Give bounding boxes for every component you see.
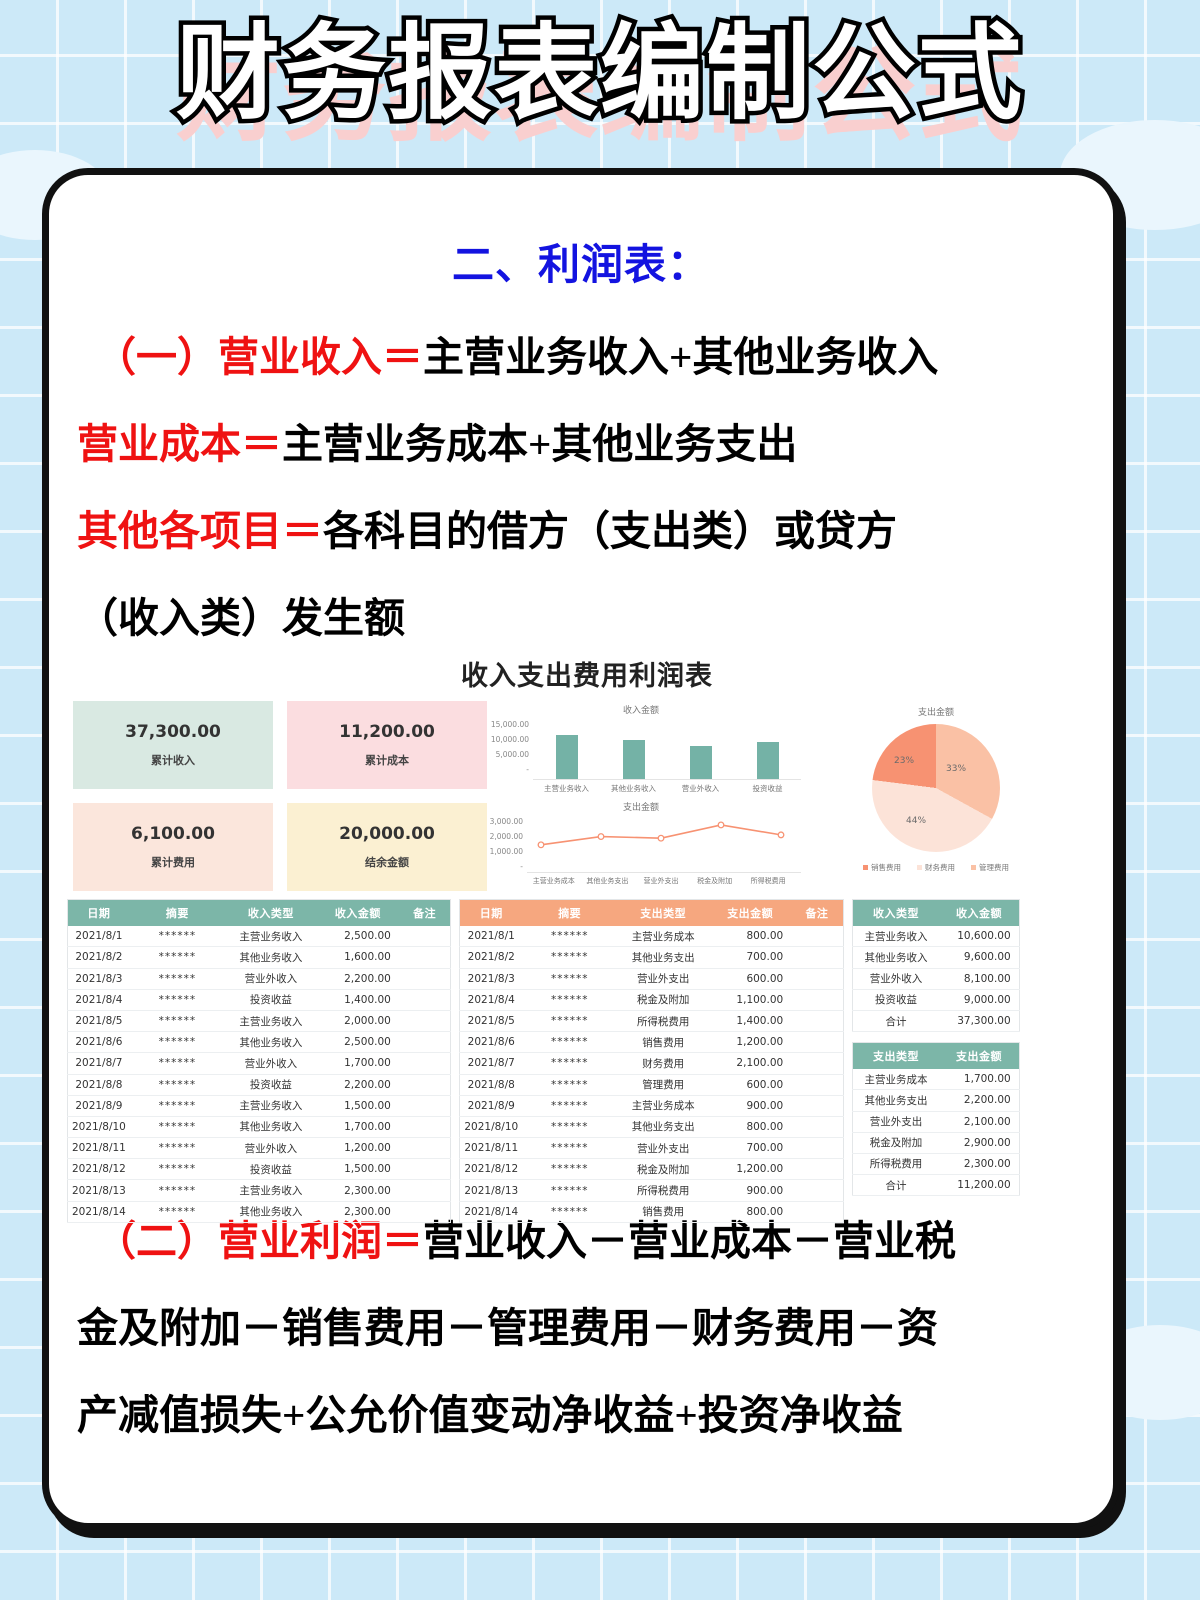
table-cell: 主营业务成本: [617, 926, 709, 947]
table-cell: [791, 1180, 843, 1201]
legend-item: 销售费用: [863, 862, 901, 873]
table-cell: 其他业务收入: [852, 947, 939, 968]
table-cell: 营业外收入: [225, 1053, 317, 1074]
table-cell: 其他业务支出: [617, 947, 709, 968]
table-cell: [399, 947, 451, 968]
table-cell: 900.00: [709, 1180, 791, 1201]
bar-chart-title: 收入金额: [481, 703, 801, 716]
table-cell: ******: [522, 968, 617, 989]
table-row: 2021/8/4******投资收益1,400.00: [68, 989, 451, 1010]
column-header: 摘要: [522, 900, 617, 927]
table-cell: 主营业务收入: [225, 926, 317, 947]
table-cell: 2021/8/9: [68, 1095, 130, 1116]
table-cell: ******: [130, 947, 225, 968]
formula-line-5: （二）营业利润＝营业收入－营业成本－营业税: [77, 1220, 1085, 1263]
tables-row: 日期摘要收入类型收入金额备注 2021/8/1******主营业务收入2,500…: [67, 899, 1107, 1223]
table-cell: [399, 1159, 451, 1180]
legend-label: 销售费用: [871, 862, 901, 873]
formula-line-7: 产减值损失+公允价值变动净收益+投资净收益: [77, 1394, 1085, 1437]
table-cell: [791, 989, 843, 1010]
table-cell: ******: [522, 1159, 617, 1180]
table-cell: 主营业务收入: [852, 926, 939, 947]
table-cell: 销售费用: [617, 1032, 709, 1053]
table-row: 2021/8/7******财务费用2,100.00: [460, 1053, 843, 1074]
expense-detail-table: 日期摘要支出类型支出金额备注 2021/8/1******主营业务成本800.0…: [459, 899, 843, 1223]
table-cell: [791, 1032, 843, 1053]
embedded-spreadsheet-screenshot: 收入支出费用利润表 37,300.00 累计收入 11,200.00 累计成本 …: [67, 654, 1107, 1184]
table-cell: 2,200.00: [317, 1074, 399, 1095]
table-cell: [399, 1116, 451, 1137]
table-cell: 其他业务收入: [225, 947, 317, 968]
table-cell: 1,400.00: [317, 989, 399, 1010]
x-tick: 其他业务收入: [603, 783, 665, 794]
table-cell: 2021/8/11: [68, 1138, 130, 1159]
table-row: 2021/8/8******管理费用600.00: [460, 1074, 843, 1095]
line-point: [598, 834, 604, 840]
table-cell: [791, 1201, 843, 1222]
kpi-value: 37,300.00: [125, 722, 221, 742]
table-cell: 2,100.00: [939, 1111, 1019, 1132]
table-cell: ******: [130, 1074, 225, 1095]
pie-chart-title: 支出金额: [801, 705, 1071, 718]
income-detail-table: 日期摘要收入类型收入金额备注 2021/8/1******主营业务收入2,500…: [67, 899, 451, 1223]
table-cell: [791, 1159, 843, 1180]
table-cell: 营业外收入: [852, 968, 939, 989]
table-cell: 1,700.00: [317, 1053, 399, 1074]
table-cell: [791, 926, 843, 947]
line-point: [718, 822, 724, 828]
bar: [757, 742, 779, 779]
table-row: 2021/8/6******销售费用1,200.00: [460, 1032, 843, 1053]
table-cell: ******: [130, 1138, 225, 1159]
table-cell: [399, 1074, 451, 1095]
table-cell: 营业外支出: [617, 968, 709, 989]
kpi-card-balance: 20,000.00 结余金额: [287, 803, 487, 891]
bottom-formulas: （二）营业利润＝营业收入－营业成本－营业税 金及附加－销售费用－管理费用－财务费…: [77, 1220, 1085, 1437]
line-point: [538, 842, 544, 848]
table-cell: 2,900.00: [939, 1132, 1019, 1153]
table-cell: 1,200.00: [709, 1159, 791, 1180]
formula-2-red: 营业成本＝: [77, 421, 282, 467]
table-row: 2021/8/13******所得税费用900.00: [460, 1180, 843, 1201]
table-cell: ******: [130, 989, 225, 1010]
kpi-card-cost: 11,200.00 累计成本: [287, 701, 487, 789]
formula-1-black: 主营业务收入+其他业务收入: [423, 334, 938, 380]
y-tick: 5,000.00: [481, 747, 529, 762]
column-header: 备注: [791, 900, 843, 927]
table-cell: [399, 1010, 451, 1031]
table-cell: 财务费用: [617, 1053, 709, 1074]
bar-chart-plot: [533, 718, 801, 780]
formula-5-red: （二）营业利润＝: [95, 1218, 423, 1264]
table-cell: 2021/8/5: [460, 1010, 522, 1031]
table-cell: 10,600.00: [939, 926, 1019, 947]
table-cell: 其他业务收入: [225, 1032, 317, 1053]
dashboard-top-row: 37,300.00 累计收入 11,200.00 累计成本 6,100.00 累…: [67, 701, 1107, 891]
table-cell: 税金及附加: [852, 1132, 939, 1153]
kpi-card-expense: 6,100.00 累计费用: [73, 803, 273, 891]
table-cell: 销售费用: [617, 1201, 709, 1222]
table-cell: 2021/8/3: [460, 968, 522, 989]
table-cell: [791, 947, 843, 968]
kpi-label: 累计成本: [365, 752, 409, 768]
table-cell: ******: [130, 968, 225, 989]
line-chart-title: 支出金额: [481, 800, 801, 813]
legend-swatch: [863, 865, 868, 870]
charts-column: 收入金额 15,000.00 10,000.00 5,000.00 - 主营业务…: [481, 701, 801, 891]
table-cell: 2,500.00: [317, 1032, 399, 1053]
table-header-row: 日期摘要收入类型收入金额备注: [68, 900, 451, 927]
y-tick: -: [481, 859, 523, 874]
table-cell: 营业外收入: [225, 1138, 317, 1159]
table-cell: 2,200.00: [317, 968, 399, 989]
table-cell: 投资收益: [225, 989, 317, 1010]
y-tick: 10,000.00: [481, 732, 529, 747]
kpi-card-income: 37,300.00 累计收入: [73, 701, 273, 789]
table-cell: 2021/8/7: [460, 1053, 522, 1074]
x-tick: 投资收益: [737, 783, 799, 794]
poster-title: 财务报表编制公式 财务报表编制公式: [0, 8, 1200, 138]
table-cell: 税金及附加: [617, 989, 709, 1010]
table-cell: 1,600.00: [317, 947, 399, 968]
line-point: [778, 832, 784, 838]
table-cell: [791, 1010, 843, 1031]
content-card: 二、利润表： （一）营业收入＝主营业务收入+其他业务收入 营业成本＝主营业务成本…: [42, 168, 1120, 1530]
x-tick: 所得税费用: [741, 876, 795, 886]
table-cell: 2021/8/1: [68, 926, 130, 947]
table-header-row: 收入类型收入金额: [852, 900, 1019, 927]
table-cell: [399, 1053, 451, 1074]
table-row: 2021/8/3******营业外支出600.00: [460, 968, 843, 989]
formula-7-black: 产减值损失+公允价值变动净收益+投资净收益: [77, 1392, 903, 1438]
table-cell: ******: [130, 926, 225, 947]
table-cell: 2021/8/13: [460, 1180, 522, 1201]
table-row: 2021/8/14******销售费用800.00: [460, 1201, 843, 1222]
table-body: 2021/8/1******主营业务收入2,500.002021/8/2****…: [68, 926, 451, 1222]
table-row: 2021/8/6******其他业务收入2,500.00: [68, 1032, 451, 1053]
kpi-value: 6,100.00: [131, 824, 215, 844]
kpi-value: 20,000.00: [339, 824, 435, 844]
table-row: 2021/8/2******其他业务收入1,600.00: [68, 947, 451, 968]
summary-column: 收入类型收入金额 主营业务收入10,600.00其他业务收入9,600.00营业…: [852, 899, 1020, 1223]
table-cell: ******: [522, 989, 617, 1010]
formula-4-black: （收入类）发生额: [77, 595, 405, 641]
table-cell: [399, 926, 451, 947]
table-row: 2021/8/5******主营业务收入2,000.00: [68, 1010, 451, 1031]
y-tick: 1,000.00: [481, 844, 523, 859]
table-cell: 营业外支出: [852, 1111, 939, 1132]
table-cell: ******: [522, 926, 617, 947]
table-row: 税金及附加2,900.00: [852, 1132, 1019, 1153]
table-cell: [791, 1095, 843, 1116]
table-row: 2021/8/14******其他业务收入2,300.00: [68, 1201, 451, 1222]
y-tick: 2,000.00: [481, 829, 523, 844]
table-cell: 其他业务支出: [617, 1116, 709, 1137]
table-cell: 2021/8/12: [460, 1159, 522, 1180]
table-cell: ******: [130, 1159, 225, 1180]
table-row: 投资收益9,000.00: [852, 989, 1019, 1010]
table-cell: [791, 968, 843, 989]
pie-slice-pct: 44%: [906, 816, 926, 826]
table-row: 2021/8/10******其他业务收入1,700.00: [68, 1116, 451, 1137]
formula-2-black: 主营业务成本+其他业务支出: [282, 421, 797, 467]
table-cell: 合计: [852, 1175, 939, 1196]
formula-1-red: （一）营业收入＝: [95, 334, 423, 380]
table-cell: 管理费用: [617, 1074, 709, 1095]
column-header: 支出金额: [709, 900, 791, 927]
line-point: [658, 836, 664, 842]
column-header: 日期: [68, 900, 130, 927]
table-cell: ******: [130, 1032, 225, 1053]
table-cell: 2021/8/4: [460, 989, 522, 1010]
formula-3-red: 其他各项目＝: [77, 508, 323, 554]
column-header: 备注: [399, 900, 451, 927]
table-cell: 所得税费用: [852, 1153, 939, 1174]
table-cell: ******: [522, 1032, 617, 1053]
table-cell: 1,700.00: [939, 1069, 1019, 1090]
table-cell: 2021/8/4: [68, 989, 130, 1010]
kpi-label: 累计费用: [151, 854, 195, 870]
table-cell: 900.00: [709, 1095, 791, 1116]
table-cell: 所得税费用: [617, 1010, 709, 1031]
table-cell: 600.00: [709, 1074, 791, 1095]
line-chart-y-axis: 3,000.00 2,000.00 1,000.00 -: [481, 814, 523, 874]
table-cell: [791, 1116, 843, 1137]
column-header: 收入类型: [225, 900, 317, 927]
x-tick: 营业外收入: [670, 783, 732, 794]
table-cell: 2021/8/1: [460, 926, 522, 947]
table-cell: 营业外收入: [225, 968, 317, 989]
table-body: 主营业务收入10,600.00其他业务收入9,600.00营业外收入8,100.…: [852, 926, 1019, 1031]
pie-slice-pct: 33%: [946, 764, 966, 774]
table-cell: 2021/8/7: [68, 1053, 130, 1074]
table-cell: 2021/8/6: [460, 1032, 522, 1053]
column-header: 支出类型: [617, 900, 709, 927]
table-cell: 其他业务收入: [225, 1201, 317, 1222]
formula-line-4: （收入类）发生额: [77, 597, 1085, 640]
column-header: 收入类型: [852, 900, 939, 927]
section-heading: 二、利润表：: [77, 231, 1085, 292]
table-cell: 11,200.00: [939, 1175, 1019, 1196]
legend-item: 财务费用: [917, 862, 955, 873]
table-cell: ******: [130, 1180, 225, 1201]
table-cell: [399, 1180, 451, 1201]
table-cell: ******: [130, 1053, 225, 1074]
table-cell: [399, 1138, 451, 1159]
table-cell: 2,300.00: [317, 1201, 399, 1222]
table-cell: 2,100.00: [709, 1053, 791, 1074]
table-header-row: 日期摘要支出类型支出金额备注: [460, 900, 843, 927]
table-cell: [399, 989, 451, 1010]
table-cell: ******: [130, 1116, 225, 1137]
table-cell: 主营业务收入: [225, 1010, 317, 1031]
table-cell: 2021/8/14: [68, 1201, 130, 1222]
table-cell: 其他业务收入: [225, 1116, 317, 1137]
table-cell: 2021/8/5: [68, 1010, 130, 1031]
table-cell: 2021/8/13: [68, 1180, 130, 1201]
table-cell: 2021/8/9: [460, 1095, 522, 1116]
column-header: 日期: [460, 900, 522, 927]
table-cell: ******: [130, 1095, 225, 1116]
kpi-grid: 37,300.00 累计收入 11,200.00 累计成本 6,100.00 累…: [67, 701, 481, 891]
y-tick: 15,000.00: [481, 717, 529, 732]
table-cell: [791, 1053, 843, 1074]
x-tick: 税金及附加: [688, 876, 742, 886]
spreadsheet-title: 收入支出费用利润表: [67, 654, 1107, 693]
column-header: 收入金额: [939, 900, 1019, 927]
column-header: 支出金额: [939, 1043, 1019, 1070]
column-header: 支出类型: [852, 1043, 939, 1070]
table-cell: ******: [130, 1201, 225, 1222]
expense-summary-table: 支出类型支出金额 主营业务成本1,700.00其他业务支出2,200.00营业外…: [852, 1042, 1020, 1196]
table-cell: 800.00: [709, 1116, 791, 1137]
legend-label: 财务费用: [925, 862, 955, 873]
table-cell: ******: [522, 1053, 617, 1074]
table-cell: 所得税费用: [617, 1180, 709, 1201]
column-header: 摘要: [130, 900, 225, 927]
x-tick: 主营业务收入: [536, 783, 598, 794]
table-cell: ******: [522, 1010, 617, 1031]
table-row: 2021/8/1******主营业务成本800.00: [460, 926, 843, 947]
table-cell: 主营业务收入: [225, 1095, 317, 1116]
table-cell: 主营业务收入: [225, 1180, 317, 1201]
bar: [556, 735, 578, 779]
table-row: 2021/8/13******主营业务收入2,300.00: [68, 1180, 451, 1201]
table-cell: 800.00: [709, 1201, 791, 1222]
table-cell: [399, 968, 451, 989]
table-cell: 700.00: [709, 947, 791, 968]
formula-line-6: 金及附加－销售费用－管理费用－财务费用－资: [77, 1307, 1085, 1350]
line-chart-x-axis: 主营业务成本 其他业务支出 营业外支出 税金及附加 所得税费用: [527, 873, 795, 886]
income-summary-table: 收入类型收入金额 主营业务收入10,600.00其他业务收入9,600.00营业…: [852, 899, 1020, 1032]
x-tick: 其他业务支出: [581, 876, 635, 886]
table-cell: ******: [522, 1116, 617, 1137]
table-cell: 2021/8/11: [460, 1138, 522, 1159]
pie-chart-legend: 销售费用 财务费用 管理费用: [801, 862, 1071, 873]
table-row: 合计11,200.00: [852, 1175, 1019, 1196]
table-row: 2021/8/2******其他业务支出700.00: [460, 947, 843, 968]
table-cell: 主营业务成本: [852, 1069, 939, 1090]
table-cell: 2021/8/3: [68, 968, 130, 989]
pie-slice-pct: 23%: [894, 756, 914, 766]
y-tick: -: [481, 762, 529, 777]
table-row: 2021/8/8******投资收益2,200.00: [68, 1074, 451, 1095]
legend-swatch: [971, 865, 976, 870]
table-cell: 2021/8/8: [68, 1074, 130, 1095]
table-row: 2021/8/11******营业外收入1,200.00: [68, 1138, 451, 1159]
table-cell: ******: [130, 1010, 225, 1031]
table-cell: 2,000.00: [317, 1010, 399, 1031]
table-cell: 2021/8/14: [460, 1201, 522, 1222]
pie-chart: 支出金额 33% 44% 23% 销售费用 财务费用 管理费用: [801, 701, 1071, 891]
table-cell: 投资收益: [852, 989, 939, 1010]
table-cell: [399, 1201, 451, 1222]
table-cell: 1,500.00: [317, 1159, 399, 1180]
formula-5-black: 营业收入－营业成本－营业税: [423, 1218, 956, 1264]
kpi-label: 累计收入: [151, 752, 195, 768]
table-row: 主营业务收入10,600.00: [852, 926, 1019, 947]
table-cell: 1,400.00: [709, 1010, 791, 1031]
table-cell: [399, 1032, 451, 1053]
bar-chart-x-axis: 主营业务收入 其他业务收入 营业外收入 投资收益: [533, 780, 801, 794]
y-tick: 3,000.00: [481, 814, 523, 829]
table-cell: ******: [522, 947, 617, 968]
table-cell: 9,000.00: [939, 989, 1019, 1010]
column-header: 收入金额: [317, 900, 399, 927]
table-cell: 2,300.00: [939, 1153, 1019, 1174]
table-cell: 2021/8/8: [460, 1074, 522, 1095]
table-cell: 800.00: [709, 926, 791, 947]
table-cell: 600.00: [709, 968, 791, 989]
formula-line-3: 其他各项目＝各科目的借方（支出类）或贷方: [77, 510, 1085, 553]
table-cell: 2021/8/10: [68, 1116, 130, 1137]
table-cell: ******: [522, 1180, 617, 1201]
formula-6-black: 金及附加－销售费用－管理费用－财务费用－资: [77, 1305, 938, 1351]
table-row: 主营业务成本1,700.00: [852, 1069, 1019, 1090]
table-header-row: 支出类型支出金额: [852, 1043, 1019, 1070]
table-cell: 2,500.00: [317, 926, 399, 947]
table-row: 2021/8/9******主营业务收入1,500.00: [68, 1095, 451, 1116]
poster-title-text: 财务报表编制公式: [0, 8, 1200, 138]
bar: [623, 740, 645, 780]
kpi-value: 11,200.00: [339, 722, 435, 742]
table-cell: 其他业务支出: [852, 1090, 939, 1111]
table-cell: ******: [522, 1138, 617, 1159]
table-row: 2021/8/10******其他业务支出800.00: [460, 1116, 843, 1137]
table-row: 2021/8/9******主营业务成本900.00: [460, 1095, 843, 1116]
table-body: 2021/8/1******主营业务成本800.002021/8/2******…: [460, 926, 843, 1222]
legend-item: 管理费用: [971, 862, 1009, 873]
table-cell: 37,300.00: [939, 1010, 1019, 1031]
table-cell: 1,100.00: [709, 989, 791, 1010]
table-cell: 2,200.00: [939, 1090, 1019, 1111]
table-row: 2021/8/5******所得税费用1,400.00: [460, 1010, 843, 1031]
line-chart-plot: [527, 815, 801, 873]
table-cell: 2021/8/12: [68, 1159, 130, 1180]
table-cell: 700.00: [709, 1138, 791, 1159]
table-row: 合计37,300.00: [852, 1010, 1019, 1031]
table-cell: 投资收益: [225, 1159, 317, 1180]
table-row: 其他业务支出2,200.00: [852, 1090, 1019, 1111]
table-row: 2021/8/12******税金及附加1,200.00: [460, 1159, 843, 1180]
table-cell: ******: [522, 1074, 617, 1095]
kpi-label: 结余金额: [365, 854, 409, 870]
formula-line-2: 营业成本＝主营业务成本+其他业务支出: [77, 423, 1085, 466]
table-row: 其他业务收入9,600.00: [852, 947, 1019, 968]
formula-3-black: 各科目的借方（支出类）或贷方: [323, 508, 897, 554]
table-cell: 8,100.00: [939, 968, 1019, 989]
table-cell: 税金及附加: [617, 1159, 709, 1180]
bar: [690, 746, 712, 779]
table-cell: 2021/8/2: [460, 947, 522, 968]
table-cell: 2,300.00: [317, 1180, 399, 1201]
table-cell: 2021/8/10: [460, 1116, 522, 1137]
bar-chart: 收入金额 15,000.00 10,000.00 5,000.00 - 主营业务…: [481, 703, 801, 794]
table-cell: 合计: [852, 1010, 939, 1031]
table-row: 所得税费用2,300.00: [852, 1153, 1019, 1174]
table-cell: 主营业务成本: [617, 1095, 709, 1116]
legend-swatch: [917, 865, 922, 870]
table-cell: 2021/8/2: [68, 947, 130, 968]
table-cell: 1,700.00: [317, 1116, 399, 1137]
table-cell: ******: [522, 1201, 617, 1222]
pie-chart-graphic: 33% 44% 23%: [872, 724, 1000, 852]
table-cell: 营业外支出: [617, 1138, 709, 1159]
x-tick: 主营业务成本: [527, 876, 581, 886]
table-body: 主营业务成本1,700.00其他业务支出2,200.00营业外支出2,100.0…: [852, 1069, 1019, 1196]
table-row: 营业外收入8,100.00: [852, 968, 1019, 989]
table-cell: 1,500.00: [317, 1095, 399, 1116]
